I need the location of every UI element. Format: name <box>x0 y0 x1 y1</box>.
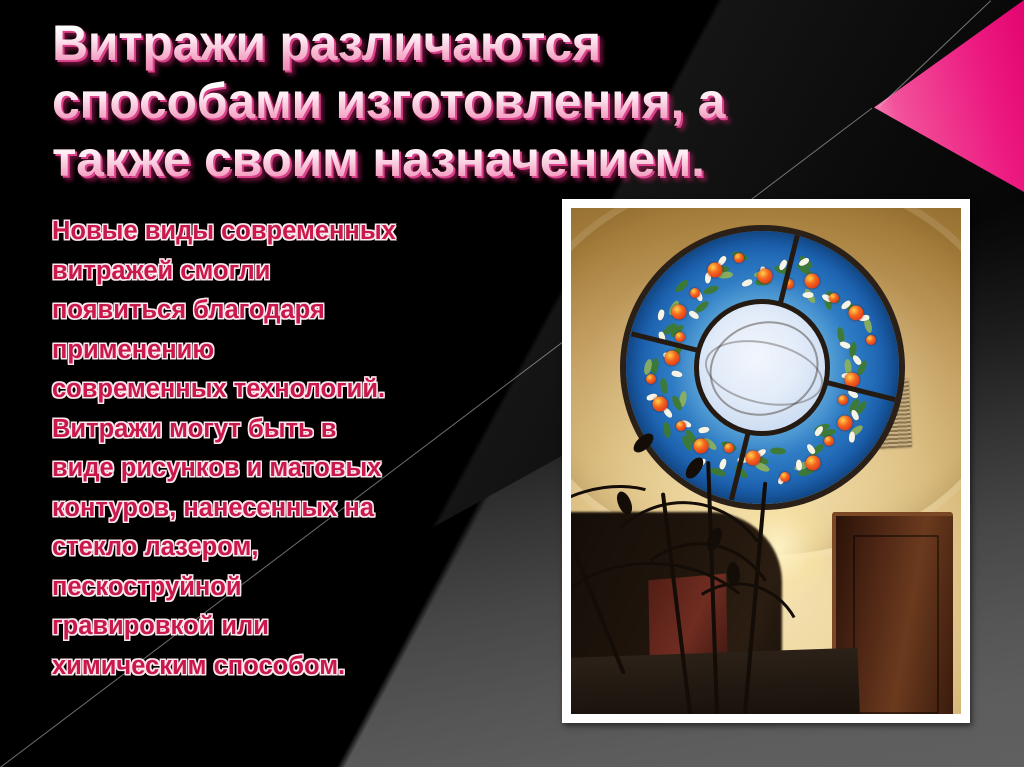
glass-blossom <box>707 262 722 277</box>
glass-petal <box>839 340 852 350</box>
glass-blossom-small <box>724 443 734 453</box>
glass-blossom <box>672 304 687 319</box>
glass-blossom-small <box>838 395 848 405</box>
glass-petal <box>848 431 855 443</box>
title-line-3: также своим назначением. <box>52 130 812 188</box>
glass-petal <box>657 309 666 321</box>
photo-frame <box>562 199 970 723</box>
glass-petal <box>671 370 683 379</box>
glass-blossom-small <box>646 374 656 384</box>
title-line-2: способами изготовления, а <box>52 72 812 130</box>
slide-title: Витражи различаются способами изготовлен… <box>52 14 812 188</box>
rosette-center-glass <box>694 299 831 436</box>
glass-blossom <box>758 269 773 284</box>
stained-glass-ceiling-photo <box>571 208 961 714</box>
glass-blossom-small <box>829 293 839 303</box>
glass-blossom <box>848 306 863 321</box>
body-line-8: контуров, нанесенных на <box>52 489 552 529</box>
glass-blossom <box>693 438 708 453</box>
diagonal-hairline-corner <box>878 0 991 107</box>
glass-foliage <box>674 278 691 293</box>
door-panel <box>853 535 940 714</box>
glass-petal <box>802 292 813 298</box>
body-line-6: Витражи могут быть в <box>52 410 552 450</box>
glass-blossom <box>837 415 852 430</box>
glass-foliage <box>702 285 719 296</box>
body-line-10: пескоструйной <box>52 568 552 608</box>
glass-petal <box>718 458 728 470</box>
body-line-1: Новые виды современных <box>52 212 552 252</box>
title-line-1: Витражи различаются <box>52 14 812 72</box>
slide-body-text: Новые виды современных витражей смогли п… <box>52 212 552 686</box>
glass-blossom <box>653 397 668 412</box>
glass-petal <box>698 426 710 433</box>
glass-petal <box>741 278 753 287</box>
body-line-2: витражей смогли <box>52 252 552 292</box>
body-line-11: гравировкой или <box>52 607 552 647</box>
body-line-12: химическим способом. <box>52 647 552 687</box>
body-line-7: виде рисунков и матовых <box>52 449 552 489</box>
glass-blossom-small <box>675 332 685 342</box>
glass-petal <box>806 442 817 455</box>
glass-blossom <box>804 273 819 288</box>
body-line-4: применению <box>52 331 552 371</box>
body-line-5: современных технологий. <box>52 370 552 410</box>
glass-petal <box>796 459 802 470</box>
glass-blossom <box>805 455 820 470</box>
glass-blossom-small <box>690 288 700 298</box>
glass-blossom-small <box>824 436 834 446</box>
glass-foliage <box>660 378 668 395</box>
body-line-9: стекло лазером, <box>52 528 552 568</box>
glass-foliage <box>770 447 787 456</box>
stained-glass-rosette <box>626 231 899 504</box>
glass-blossom <box>745 450 760 465</box>
body-line-3: появиться благодаря <box>52 291 552 331</box>
glass-blossom-small <box>780 472 790 482</box>
magenta-corner-triangle <box>874 0 1024 192</box>
glass-blossom-small <box>676 421 686 431</box>
glass-foliage <box>663 422 671 438</box>
presentation-slide: Витражи различаются способами изготовлен… <box>0 0 1024 767</box>
glass-blossom <box>664 350 679 365</box>
glass-blossom-small <box>866 335 876 345</box>
glass-blossom-small <box>734 253 744 263</box>
